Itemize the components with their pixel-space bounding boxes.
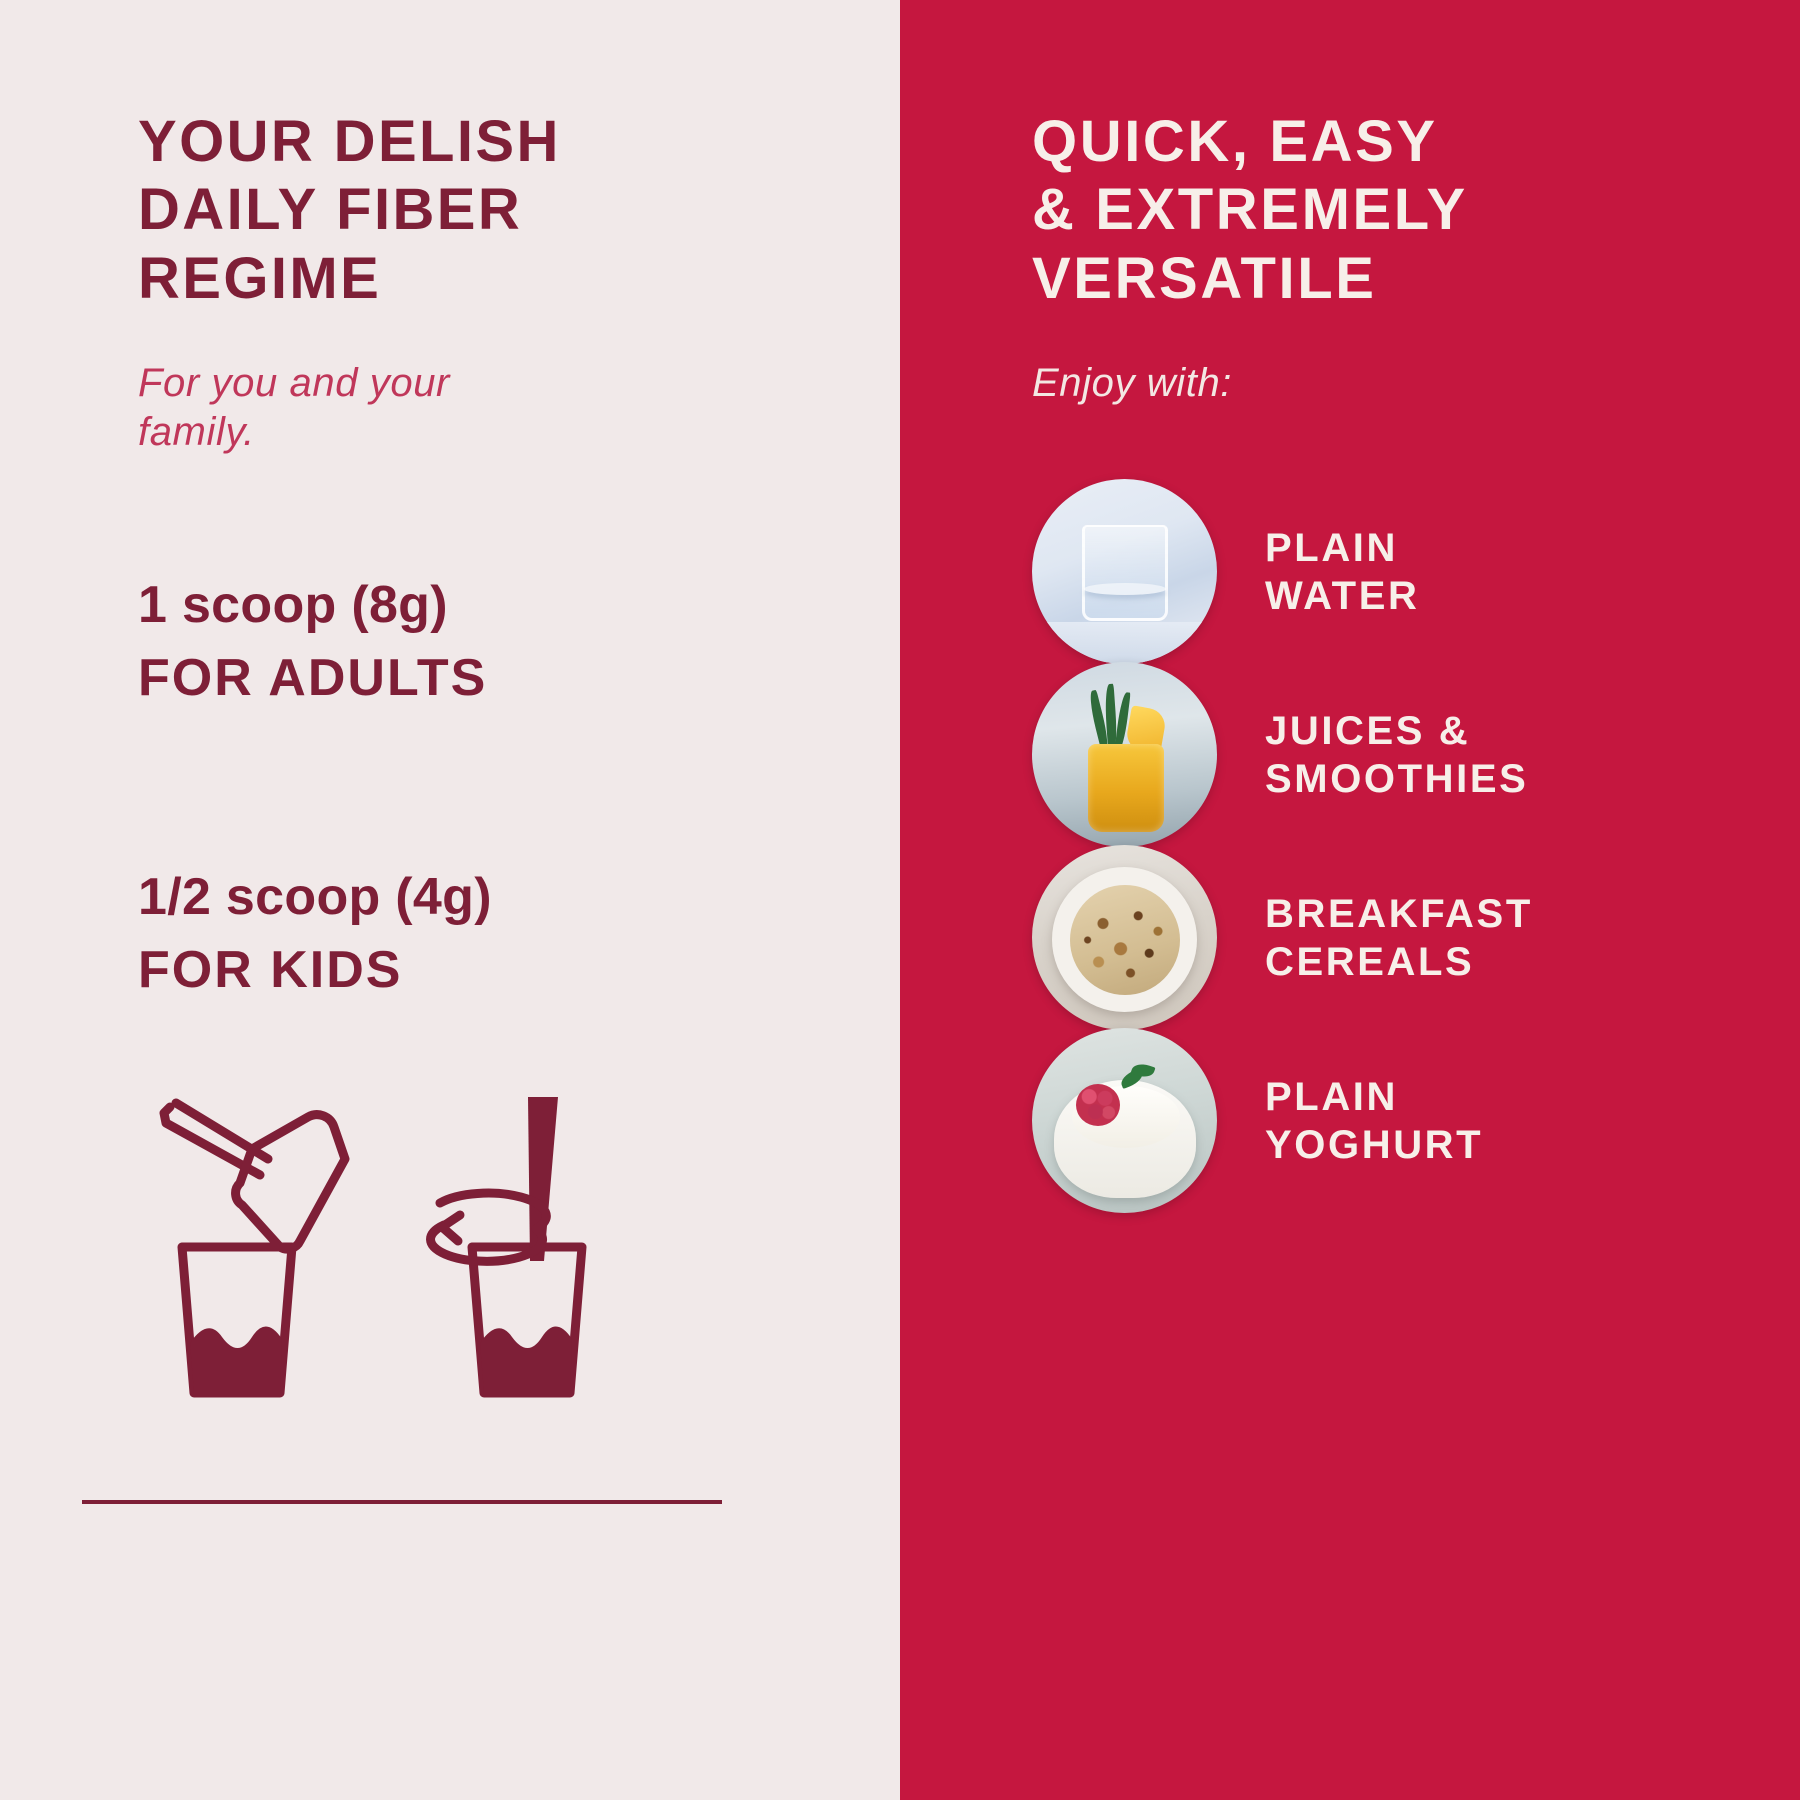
usage-label-plain-water: PLAIN WATER	[1265, 524, 1419, 620]
usage-label-juices-smoothies: JUICES & SMOOTHIES	[1265, 707, 1528, 803]
dose-audience-kids: FOR KIDS	[138, 942, 900, 999]
preparation-icons	[140, 1075, 660, 1405]
dose-amount-kids: 1/2 scoop (4g)	[138, 869, 900, 926]
left-panel-subtitle: For you and your family.	[138, 359, 598, 457]
left-panel-divider	[82, 1500, 722, 1504]
usage-list: PLAIN WATER JUICES & SMOOTHIES BREAKFAST	[1032, 480, 1732, 1212]
list-item: PLAIN YOGHURT	[1032, 1029, 1732, 1212]
water-surface-shape	[1084, 583, 1166, 595]
glass-liquid-fill-1	[190, 1326, 282, 1393]
right-panel-title: QUICK, EASY & EXTREMELY VERSATILE	[1032, 108, 1632, 313]
mint-leaf-shape	[1118, 1062, 1158, 1096]
table-surface-shape	[1032, 622, 1217, 664]
left-panel-dosage: YOUR DELISH DAILY FIBER REGIME For you a…	[0, 0, 900, 1800]
cereal-grains-shape	[1070, 885, 1180, 995]
left-panel-title: YOUR DELISH DAILY FIBER REGIME	[138, 108, 698, 313]
dose-block-kids: 1/2 scoop (4g) FOR KIDS	[138, 869, 900, 999]
pineapple-juice-photo	[1032, 662, 1217, 847]
dose-block-adults: 1 scoop (8g) FOR ADULTS	[138, 577, 900, 707]
right-panel-subtitle: Enjoy with:	[1032, 361, 1800, 406]
yoghurt-raspberry-photo	[1032, 1028, 1217, 1213]
dose-audience-adults: FOR ADULTS	[138, 650, 900, 707]
list-item: BREAKFAST CEREALS	[1032, 846, 1732, 1029]
juice-glass-shape	[1088, 744, 1164, 832]
cereal-bowl-photo	[1032, 845, 1217, 1030]
list-item: JUICES & SMOOTHIES	[1032, 663, 1732, 846]
list-item: PLAIN WATER	[1032, 480, 1732, 663]
usage-label-breakfast-cereals: BREAKFAST CEREALS	[1265, 890, 1533, 986]
left-panel-content: YOUR DELISH DAILY FIBER REGIME For you a…	[0, 0, 900, 1000]
infographic-poster: YOUR DELISH DAILY FIBER REGIME For you a…	[0, 0, 1800, 1800]
raspberry-shape	[1076, 1084, 1120, 1126]
dose-amount-adults: 1 scoop (8g)	[138, 577, 900, 634]
glass-of-water-photo	[1032, 479, 1217, 664]
water-glass-shape	[1082, 525, 1168, 621]
preparation-icons-svg	[140, 1075, 660, 1405]
right-panel-content: QUICK, EASY & EXTREMELY VERSATILE Enjoy …	[900, 0, 1800, 406]
right-panel-usage: QUICK, EASY & EXTREMELY VERSATILE Enjoy …	[900, 0, 1800, 1800]
glass-liquid-fill-2	[480, 1326, 572, 1393]
usage-label-plain-yoghurt: PLAIN YOGHURT	[1265, 1073, 1483, 1169]
